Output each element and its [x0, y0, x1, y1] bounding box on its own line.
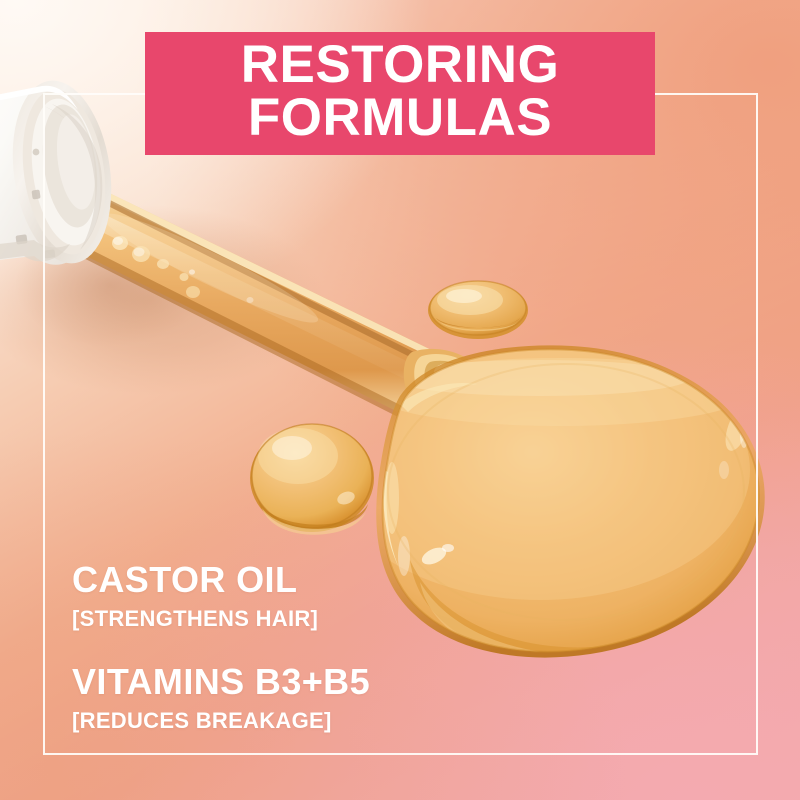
benefit-title: VITAMINS B3+B5 [72, 664, 492, 700]
benefit-subtitle: [REDUCES BREAKAGE] [72, 710, 492, 732]
medium-oil-droplet [250, 424, 374, 535]
banner-line-1: RESTORING [241, 39, 560, 91]
promo-canvas: RESTORING FORMULAS CASTOR OIL [STRENGTHE… [0, 0, 800, 800]
title-banner: RESTORING FORMULAS [145, 32, 655, 155]
benefit-item-vitamins: VITAMINS B3+B5 [REDUCES BREAKAGE] [72, 664, 492, 732]
benefits-list: CASTOR OIL [STRENGTHENS HAIR] VITAMINS B… [72, 562, 492, 732]
benefit-title: CASTOR OIL [72, 562, 492, 598]
banner-line-2: FORMULAS [248, 92, 552, 144]
small-oil-droplet [428, 281, 528, 339]
benefit-item-castor-oil: CASTOR OIL [STRENGTHENS HAIR] [72, 562, 492, 630]
benefit-subtitle: [STRENGTHENS HAIR] [72, 608, 492, 630]
